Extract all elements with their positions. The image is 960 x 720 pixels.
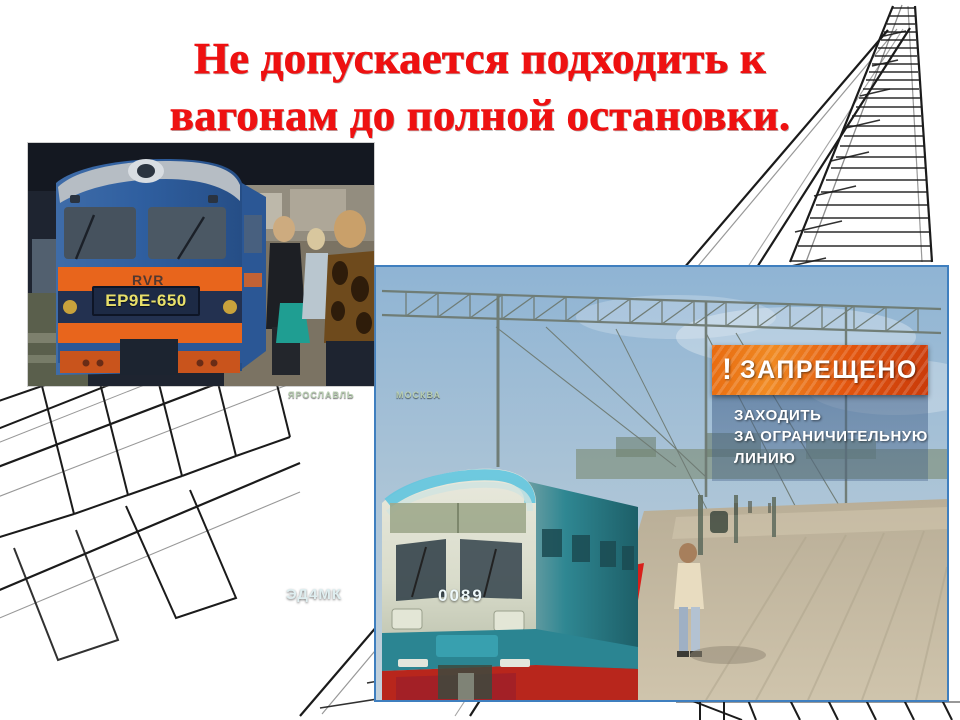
exclamation-icon: ! [722, 355, 732, 385]
sign-body-line-3: ЛИНИЮ [734, 448, 918, 469]
photo-er9e-train: RVR [28, 143, 374, 386]
destination-board-left: ЯРОСЛАВЛЬ [288, 390, 355, 400]
lower-right-track-fragments [676, 700, 960, 720]
slide-title: Не допускается подходить к вагонам до по… [60, 30, 900, 144]
title-line-2: вагонам до полной остановки. [52, 87, 909, 144]
sign-body-line-1: ЗАХОДИТЬ [734, 405, 918, 426]
prohibition-sign-banner: ! ЗАПРЕЩЕНО [712, 345, 928, 395]
er9e-number-plate: ЕР9Е-650 [92, 286, 200, 316]
prohibition-sign-body: ЗАХОДИТЬ ЗА ОГРАНИЧИТЕЛЬНУЮ ЛИНИЮ [712, 395, 928, 481]
prohibition-sign-title: ЗАПРЕЩЕНО [740, 356, 918, 385]
sign-body-line-2: ЗА ОГРАНИЧИТЕЛЬНУЮ [734, 426, 918, 447]
ed4mk-train-number: 0089 [438, 586, 484, 606]
title-line-1: Не допускается подходить к [52, 30, 909, 87]
ed4mk-series-mark: ЭД4МК [286, 586, 342, 603]
prohibition-sign: ! ЗАПРЕЩЕНО ЗАХОДИТЬ ЗА ОГРАНИЧИТЕЛЬНУЮ … [712, 345, 928, 505]
slide-canvas: Не допускается подходить к вагонам до по… [0, 0, 960, 720]
destination-board-right: МОСКВА [396, 390, 441, 400]
